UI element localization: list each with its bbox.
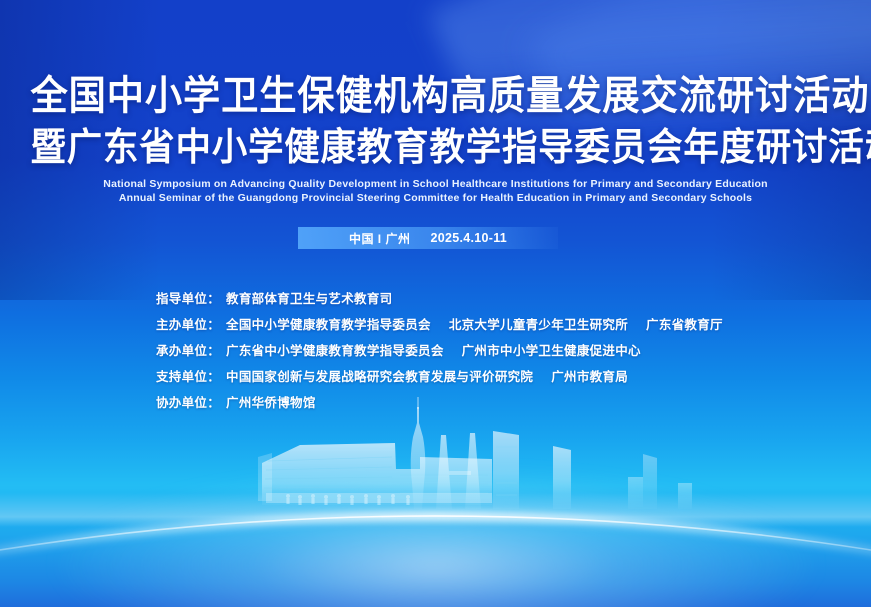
credit-organization: 广州市中小学卫生健康促进中心 xyxy=(462,340,641,359)
credit-organization: 广州市教育局 xyxy=(551,366,628,385)
sweeping-arc-line xyxy=(0,430,871,607)
credit-row: 支持单位：中国国家创新与发展战略研究会教育发展与评价研究院广州市教育局 xyxy=(156,366,856,392)
credit-organizations: 教育部体育卫生与艺术教育司 xyxy=(226,288,392,307)
credit-label: 主办单位： xyxy=(156,314,220,333)
credit-organization: 全国中小学健康教育教学指导委员会 xyxy=(226,314,431,333)
credit-organization: 广东省教育厅 xyxy=(646,314,723,333)
credit-row: 协办单位：广州华侨博物馆 xyxy=(156,392,856,418)
credit-organizations: 广州华侨博物馆 xyxy=(226,392,316,411)
ctf-finance-centre xyxy=(493,431,519,509)
venue-date-badge: 中国 I 广州 2025.4.10-11 xyxy=(298,227,558,249)
right-towers-group xyxy=(628,454,692,509)
venue-date: 2025.4.10-11 xyxy=(430,231,507,245)
organizer-credits: 指导单位：教育部体育卫生与艺术教育司主办单位：全国中小学健康教育教学指导委员会北… xyxy=(156,288,856,418)
venue-location: 中国 I 广州 xyxy=(349,230,411,247)
credit-organization: 广东省中小学健康教育教学指导委员会 xyxy=(226,340,444,359)
arc-glow-layer xyxy=(0,430,871,607)
poster-subtitle-english-line-2: Annual Seminar of the Guangdong Provinci… xyxy=(0,192,871,204)
poster-subtitle-english-line-1: National Symposium on Advancing Quality … xyxy=(0,178,871,190)
credit-label: 协办单位： xyxy=(156,392,220,411)
credit-organizations: 全国中小学健康教育教学指导委员会北京大学儿童青少年卫生研究所广东省教育厅 xyxy=(226,314,723,333)
city-skyline-silhouette xyxy=(0,397,871,607)
credit-row: 承办单位：广东省中小学健康教育教学指导委员会广州市中小学卫生健康促进中心 xyxy=(156,340,856,366)
credit-organization: 广州华侨博物馆 xyxy=(226,392,316,411)
credit-label: 支持单位： xyxy=(156,366,220,385)
credit-organizations: 中国国家创新与发展战略研究会教育发展与评价研究院广州市教育局 xyxy=(226,366,628,385)
poster-title-line-1: 全国中小学卫生保健机构高质量发展交流研讨活动 xyxy=(30,74,840,118)
conference-poster: 全国中小学卫生保健机构高质量发展交流研讨活动 暨广东省中小学健康教育教学指导委员… xyxy=(0,0,871,607)
credit-organization: 中国国家创新与发展战略研究会教育发展与评价研究院 xyxy=(226,366,533,385)
credit-label: 承办单位： xyxy=(156,340,220,359)
credit-label: 指导单位： xyxy=(156,288,220,307)
arc-core-layer xyxy=(0,430,871,607)
credit-row: 主办单位：全国中小学健康教育教学指导委员会北京大学儿童青少年卫生研究所广东省教育… xyxy=(156,314,856,340)
center-glow xyxy=(56,470,816,607)
office-tower xyxy=(553,446,571,509)
credit-organization: 北京大学儿童青少年卫生研究所 xyxy=(449,314,628,333)
credit-organization: 教育部体育卫生与艺术教育司 xyxy=(226,288,392,307)
school-building-group xyxy=(258,443,492,505)
twin-spire-towers xyxy=(436,433,481,509)
poster-title-line-2: 暨广东省中小学健康教育教学指导委员会年度研讨活动 xyxy=(30,127,840,169)
students-figures xyxy=(286,494,410,505)
credit-organizations: 广东省中小学健康教育教学指导委员会广州市中小学卫生健康促进中心 xyxy=(226,340,641,359)
credit-row: 指导单位：教育部体育卫生与艺术教育司 xyxy=(156,288,856,314)
